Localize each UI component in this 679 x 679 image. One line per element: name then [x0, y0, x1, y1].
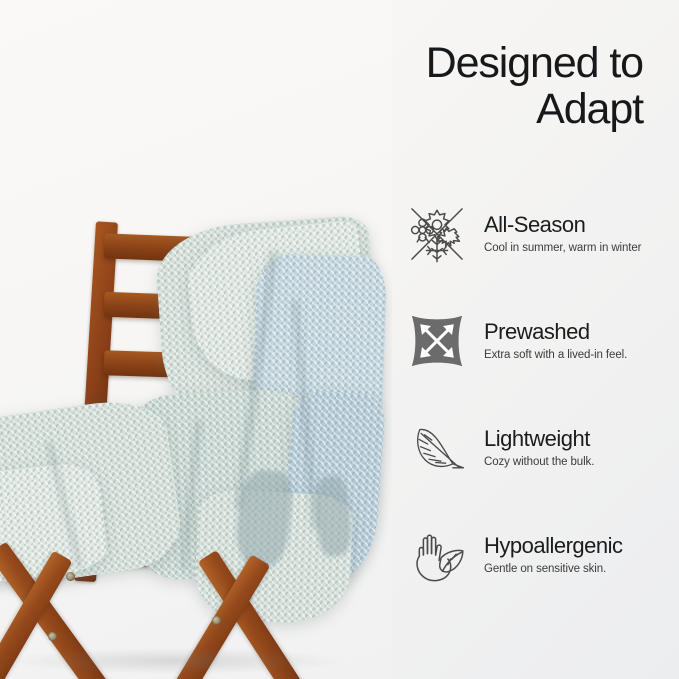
chair-floor-shadow [10, 648, 340, 674]
chair-bolt [48, 632, 57, 641]
headline-line-2: Adapt [343, 86, 643, 132]
feature-text: Lightweight Cozy without the bulk. [476, 426, 594, 469]
feature-text: Hypoallergenic Gentle on sensitive skin. [476, 533, 623, 576]
feature-item-hypoallergenic: Hypoallergenic Gentle on sensitive skin. [398, 513, 666, 597]
feature-subtitle: Extra soft with a lived-in feel. [484, 348, 627, 363]
feature-list: All-Season Cool in summer, warm in winte… [398, 192, 666, 597]
chair-bolt [212, 616, 221, 625]
page-title: Designed to Adapt [343, 40, 643, 133]
feature-title: Prewashed [484, 319, 627, 345]
product-photo [0, 0, 392, 679]
feature-subtitle: Cozy without the bulk. [484, 455, 594, 470]
four-seasons-icon [398, 195, 476, 273]
headline-line-1: Designed to [343, 40, 643, 86]
product-infographic: Designed to Adapt [0, 0, 679, 679]
feature-title: Lightweight [484, 426, 594, 452]
feature-item-lightweight: Lightweight Cozy without the bulk. [398, 406, 666, 490]
feature-item-prewashed: Prewashed Extra soft with a lived-in fee… [398, 299, 666, 383]
feature-text: All-Season Cool in summer, warm in winte… [476, 212, 641, 255]
hand-leaf-icon [398, 516, 476, 594]
feature-item-all-season: All-Season Cool in summer, warm in winte… [398, 192, 666, 276]
feature-subtitle: Gentle on sensitive skin. [484, 562, 623, 577]
feature-title: All-Season [484, 212, 641, 238]
feature-subtitle: Cool in summer, warm in winter [484, 241, 641, 256]
pillow-arrows-icon [398, 302, 476, 380]
feature-title: Hypoallergenic [484, 533, 623, 559]
feather-icon [398, 409, 476, 487]
chair-bolt [66, 572, 75, 581]
feature-text: Prewashed Extra soft with a lived-in fee… [476, 319, 627, 362]
